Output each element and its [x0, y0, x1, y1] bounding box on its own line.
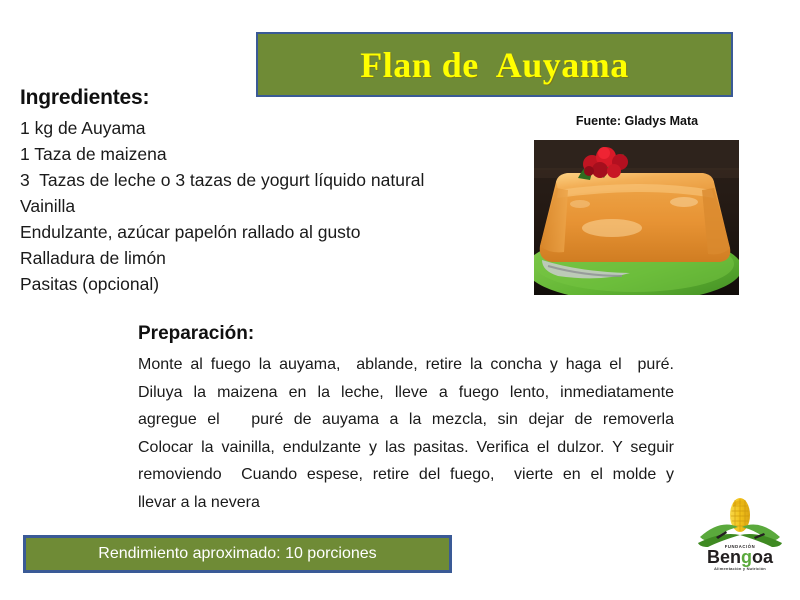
logo-tagline: Alimentación y Nutrición [714, 566, 766, 571]
preparation-line: llevar a la nevera [138, 489, 674, 517]
preparation-line: removiendo Cuando espese, retire del fue… [138, 461, 674, 489]
ingredient-item: Ralladura de limón [20, 245, 500, 271]
logo-wordmark: Bengoa [707, 547, 774, 567]
ingredients-section: Ingredientes: 1 kg de Auyama 1 Taza de m… [20, 86, 500, 297]
ingredient-item: Vainilla [20, 193, 500, 219]
ingredient-item: Endulzante, azúcar papelón rallado al gu… [20, 219, 500, 245]
flan-de-auyama-photo [534, 140, 739, 295]
preparation-line: Colocar la vainilla, endulzante y las pa… [138, 434, 674, 462]
ingredient-item: 3 Tazas de leche o 3 tazas de yogurt líq… [20, 167, 500, 193]
preparation-line: agregue el puré de auyama a la mezcla, s… [138, 406, 674, 434]
yield-text: Rendimiento aproximado: 10 porciones [98, 545, 376, 563]
ingredient-item: 1 Taza de maizena [20, 141, 500, 167]
page-title: Flan de Auyama [360, 44, 629, 86]
preparation-line: Monte al fuego la auyama, ablande, retir… [138, 351, 674, 379]
yield-banner: Rendimiento aproximado: 10 porciones [23, 535, 452, 573]
bengoa-logo: FUNDACIÓN Bengoa Alimentación y Nutrició… [692, 497, 788, 573]
ingredient-item: Pasitas (opcional) [20, 271, 500, 297]
ingredient-item: 1 kg de Auyama [20, 115, 500, 141]
preparation-line: Diluya la maizena en la leche, lleve a f… [138, 379, 674, 407]
preparation-section: Preparación: Monte al fuego la auyama, a… [138, 323, 674, 516]
ingredients-heading: Ingredientes: [20, 86, 500, 110]
photo-source-caption: Fuente: Gladys Mata [534, 114, 740, 128]
preparation-heading: Preparación: [138, 323, 674, 345]
